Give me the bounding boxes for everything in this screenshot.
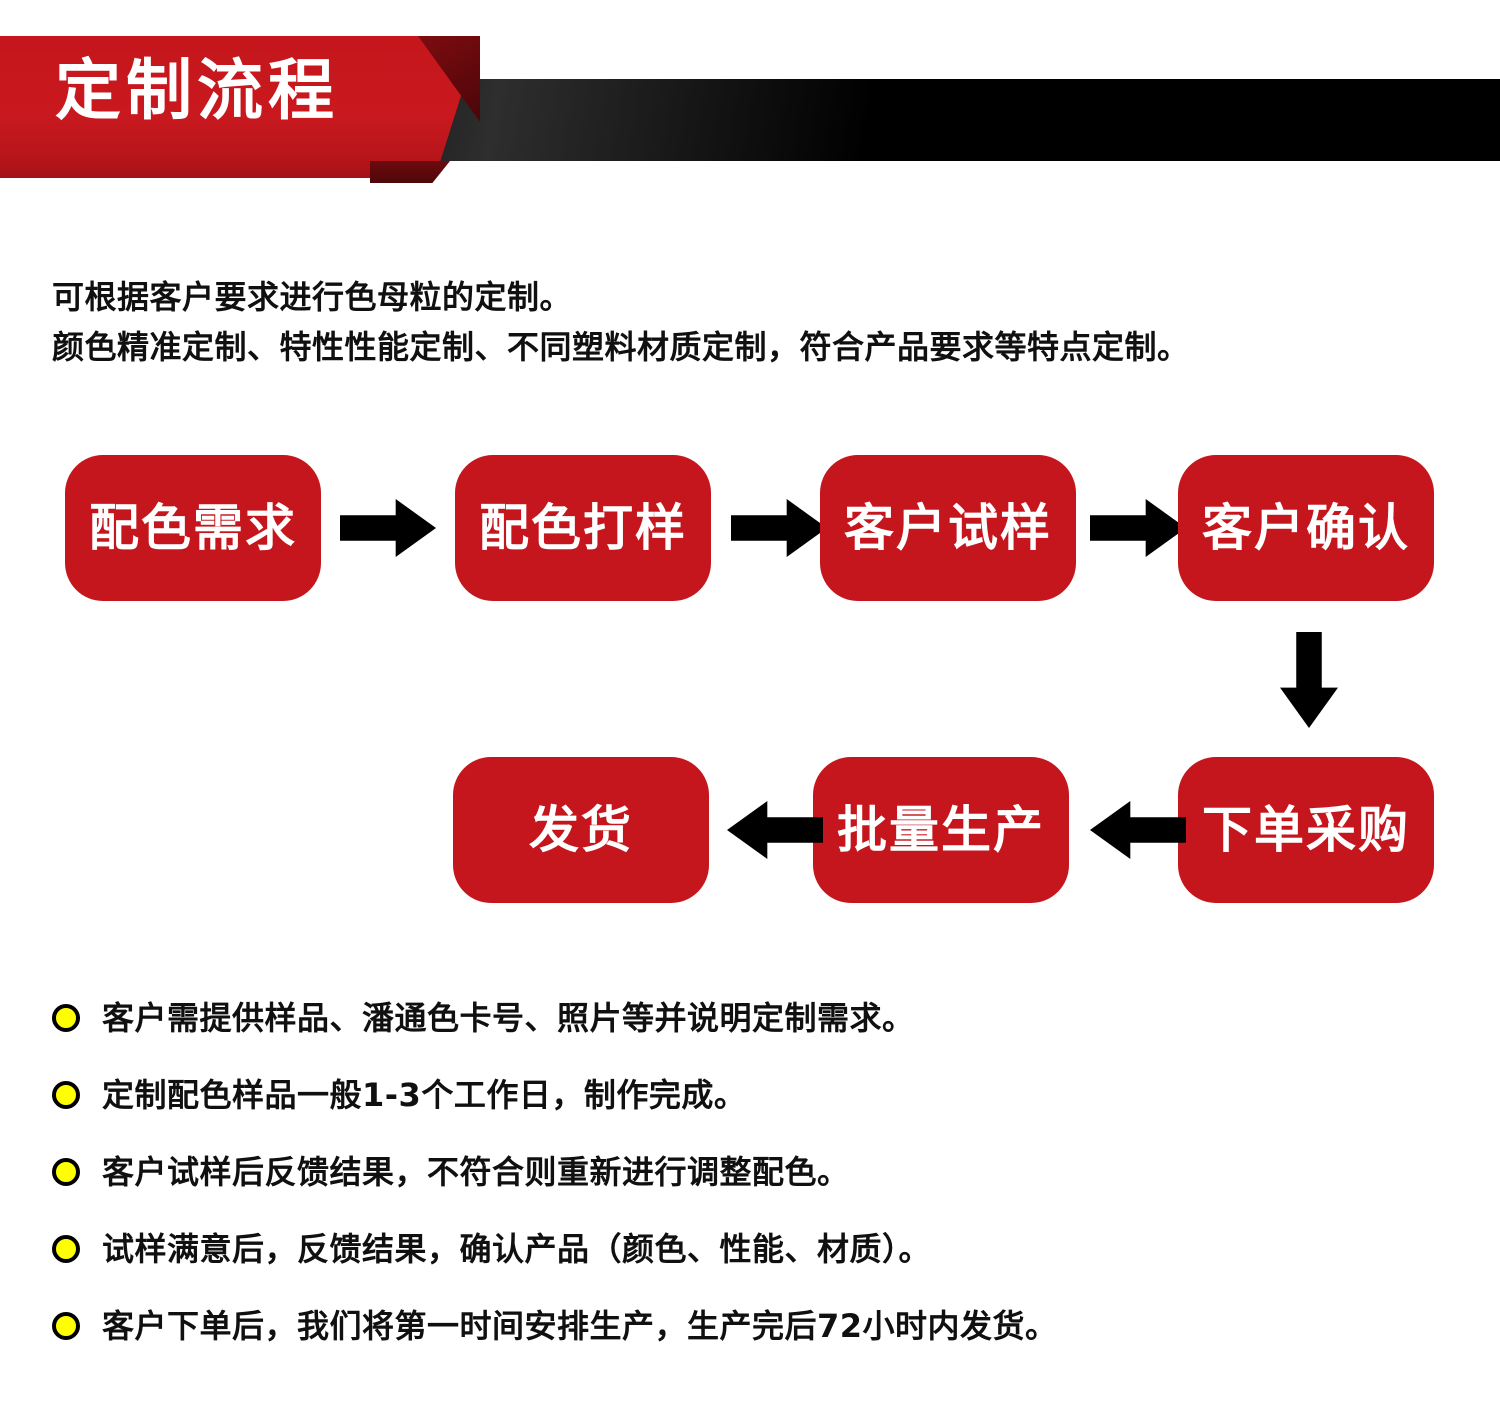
intro-line-1: 可根据客户要求进行色母粒的定制。 (52, 273, 1452, 323)
list-item: 试样满意后，反馈结果，确认产品（颜色、性能、材质）。 (52, 1211, 1472, 1287)
flow-node-label: 客户确认 (1202, 503, 1410, 553)
flow-node-label: 配色需求 (89, 503, 297, 553)
list-item: 客户下单后，我们将第一时间安排生产，生产完后72小时内发货。 (52, 1288, 1472, 1364)
arrow-left-icon (727, 801, 823, 859)
flow-node-label: 下单采购 (1202, 805, 1410, 855)
header-banner: 定制流程 (0, 0, 1500, 200)
flow-node-label: 客户试样 (844, 503, 1052, 553)
flow-node-customer-trial[interactable]: 客户试样 (820, 455, 1076, 601)
list-item-label: 试样满意后，反馈结果，确认产品（颜色、性能、材质）。 (102, 1230, 931, 1268)
banner-fold-bottom-shape (370, 161, 450, 183)
flow-node-customer-confirmation[interactable]: 客户确认 (1178, 455, 1434, 601)
arrow-left-icon (1090, 801, 1186, 859)
arrow-down-icon (1280, 632, 1338, 728)
bullet-dot-icon (52, 1312, 80, 1340)
flow-node-label: 批量生产 (837, 805, 1045, 855)
list-item: 客户试样后反馈结果，不符合则重新进行调整配色。 (52, 1134, 1472, 1210)
arrow-right-icon (340, 499, 436, 557)
intro-paragraph: 可根据客户要求进行色母粒的定制。 颜色精准定制、特性性能定制、不同塑料材质定制，… (52, 273, 1452, 372)
bullet-dot-icon (52, 1235, 80, 1263)
list-item-label: 客户需提供样品、潘通色卡号、照片等并说明定制需求。 (102, 999, 915, 1037)
flow-node-place-order-purchase[interactable]: 下单采购 (1178, 757, 1434, 903)
flow-node-mass-production[interactable]: 批量生产 (813, 757, 1069, 903)
bullet-dot-icon (52, 1158, 80, 1186)
bullet-dot-icon (52, 1004, 80, 1032)
notes-list: 客户需提供样品、潘通色卡号、照片等并说明定制需求。 定制配色样品一般1-3个工作… (52, 980, 1472, 1365)
flow-node-label: 配色打样 (479, 503, 687, 553)
bullet-dot-icon (52, 1081, 80, 1109)
list-item-label: 客户下单后，我们将第一时间安排生产，生产完后72小时内发货。 (102, 1307, 1058, 1345)
arrow-right-icon (1090, 499, 1186, 557)
flow-node-label: 发货 (529, 805, 633, 855)
list-item: 客户需提供样品、潘通色卡号、照片等并说明定制需求。 (52, 980, 1472, 1056)
list-item-label: 定制配色样品一般1-3个工作日，制作完成。 (102, 1076, 746, 1114)
flow-node-color-matching-request[interactable]: 配色需求 (65, 455, 321, 601)
list-item-label: 客户试样后反馈结果，不符合则重新进行调整配色。 (102, 1153, 850, 1191)
page-title: 定制流程 (55, 58, 339, 124)
flow-node-shipment[interactable]: 发货 (453, 757, 709, 903)
arrow-right-icon (731, 499, 827, 557)
list-item: 定制配色样品一般1-3个工作日，制作完成。 (52, 1057, 1472, 1133)
intro-line-2: 颜色精准定制、特性性能定制、不同塑料材质定制，符合产品要求等特点定制。 (52, 323, 1452, 373)
flow-node-color-matching-sample[interactable]: 配色打样 (455, 455, 711, 601)
